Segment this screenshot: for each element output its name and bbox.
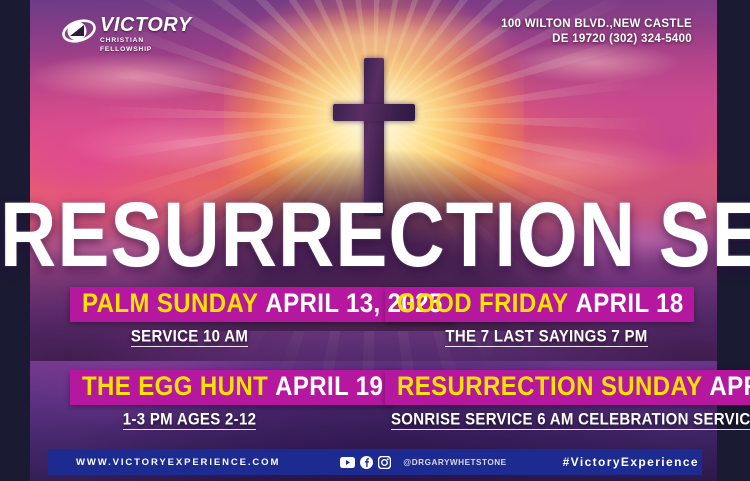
address-line-2: DE 19720 (302) 324-5400	[501, 32, 692, 47]
event-item-egg-hunt[interactable]: THE EGG HUNTAPRIL 19 1-3 PM AGES 2-12	[48, 370, 375, 430]
event-date: APRIL 20	[709, 374, 750, 401]
event-name: THE EGG HUNT	[82, 374, 268, 401]
address-line-1: 100 WILTON BLVD.,NEW CASTLE	[501, 17, 692, 32]
event-details-text: THE 7 LAST SAYINGS 7 PM	[445, 328, 647, 345]
event-row-2: THE EGG HUNTAPRIL 19 1-3 PM AGES 2-12 RE…	[48, 370, 702, 430]
instagram-icon[interactable]	[378, 456, 391, 469]
event-details: THE 7 LAST SAYINGS 7 PM	[385, 329, 702, 347]
event-row-1: PALM SUNDAYAPRIL 13, 2025 SERVICE 10 AM …	[48, 287, 702, 347]
event-headline-bar: RESURRECTION SUNDAYAPRIL 20	[385, 370, 750, 405]
event-list: PALM SUNDAYAPRIL 13, 2025 SERVICE 10 AM …	[48, 287, 702, 430]
cross-horizontal-beam	[333, 104, 415, 121]
youtube-icon[interactable]	[340, 457, 355, 468]
flyer-title-text: RESURRECTION SERVICES	[0, 188, 750, 280]
social-links: @DRGARYWHETSTONE	[340, 456, 506, 469]
event-date: APRIL 18	[576, 291, 684, 318]
victory-swoosh-icon	[62, 16, 96, 46]
hashtag[interactable]: #VictoryExperience	[563, 455, 699, 469]
brand-logo[interactable]: VICTORY CHRISTIAN FELLOWSHIP	[62, 12, 192, 50]
event-item-palm-sunday[interactable]: PALM SUNDAYAPRIL 13, 2025 SERVICE 10 AM	[48, 287, 375, 347]
brand-name: VICTORY	[100, 15, 192, 35]
facebook-icon[interactable]	[360, 456, 373, 469]
event-headline-bar: GOOD FRIDAYAPRIL 18	[385, 287, 694, 322]
event-headline-bar: PALM SUNDAYAPRIL 13, 2025	[70, 287, 453, 322]
event-details-text: SONRISE SERVICE 6 AM CELEBRATION SERVICE…	[391, 411, 750, 428]
event-item-resurrection-sunday[interactable]: RESURRECTION SUNDAYAPRIL 20 SONRISE SERV…	[375, 370, 702, 430]
flyer-canvas: VICTORY CHRISTIAN FELLOWSHIP 100 WILTON …	[0, 0, 750, 481]
event-date: APRIL 19	[275, 374, 383, 401]
event-details: 1-3 PM AGES 2-12	[48, 412, 375, 430]
brand-logo-text: VICTORY CHRISTIAN FELLOWSHIP	[100, 15, 192, 54]
event-details: SERVICE 10 AM	[48, 329, 375, 347]
event-details-text: SERVICE 10 AM	[131, 328, 248, 345]
church-address: 100 WILTON BLVD.,NEW CASTLE DE 19720 (30…	[501, 17, 692, 47]
event-details-text: 1-3 PM AGES 2-12	[123, 411, 256, 428]
website-link[interactable]: WWW.VICTORYEXPERIENCE.COM	[76, 457, 280, 468]
footer-bar: WWW.VICTORYEXPERIENCE.COM	[48, 449, 702, 475]
brand-tagline: CHRISTIAN FELLOWSHIP	[100, 36, 192, 54]
event-details: SONRISE SERVICE 6 AM CELEBRATION SERVICE…	[385, 412, 702, 430]
event-name: PALM SUNDAY	[82, 291, 258, 318]
event-item-good-friday[interactable]: GOOD FRIDAYAPRIL 18 THE 7 LAST SAYINGS 7…	[375, 287, 702, 347]
event-headline-bar: THE EGG HUNTAPRIL 19	[70, 370, 393, 405]
flyer-title: RESURRECTION SERVICES	[0, 188, 750, 266]
social-handle[interactable]: @DRGARYWHETSTONE	[403, 458, 506, 467]
event-name: GOOD FRIDAY	[397, 291, 569, 318]
event-name: RESURRECTION SUNDAY	[397, 374, 702, 401]
